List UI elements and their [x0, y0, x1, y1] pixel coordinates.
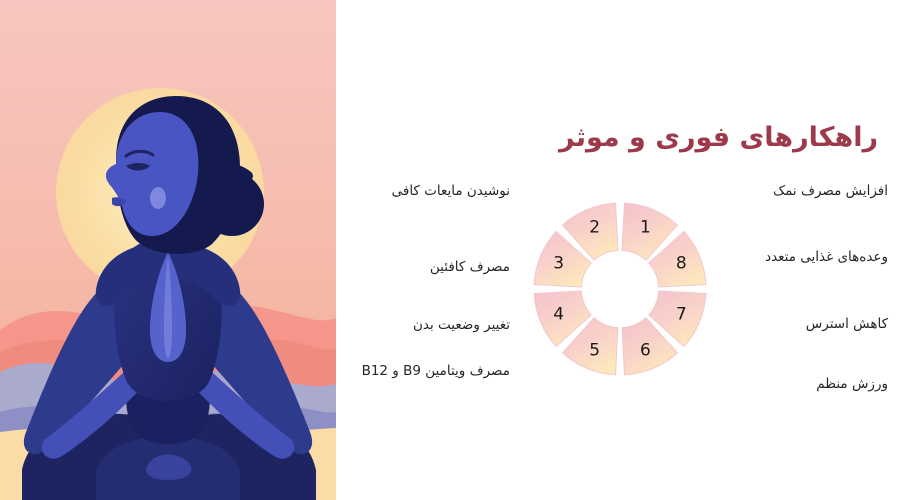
label-frequent-meals: وعده‌های غذایی متعدد [718, 248, 888, 268]
hair-bun [200, 172, 264, 236]
label-salt-intake: افزایش مصرف نمک [718, 182, 888, 202]
label-vitamins-b9-b12: مصرف ویتامین B9 و B12 [348, 362, 510, 382]
label-change-posture: تغییر وضعیت بدن [348, 316, 510, 336]
label-drink-fluids: نوشیدن مایعات کافی [348, 182, 510, 202]
content-panel: راهکارهای فوری و موثر 18765432 افزایش مص… [336, 0, 900, 500]
illustration-panel [0, 0, 336, 500]
meditating-woman-illustration [0, 0, 336, 500]
infographic-slide: راهکارهای فوری و موثر 18765432 افزایش مص… [0, 0, 900, 500]
label-caffeine-intake: مصرف کافئین [348, 258, 510, 278]
ear [150, 187, 166, 209]
label-regular-exercise: ورزش منظم [718, 375, 888, 395]
label-layer: افزایش مصرف نمک وعده‌های غذایی متعدد کاه… [336, 0, 900, 500]
label-reduce-stress: کاهش استرس [718, 315, 888, 335]
